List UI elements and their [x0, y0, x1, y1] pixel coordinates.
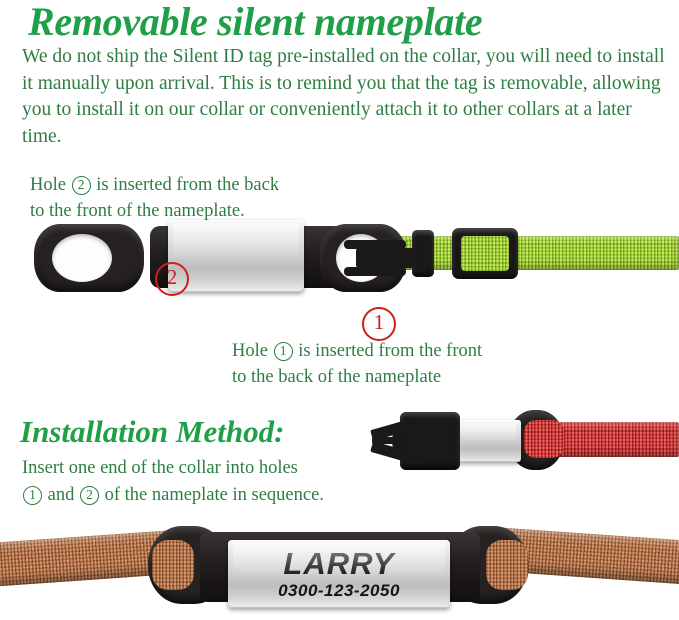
engraved-phone: 0300-123-2050	[228, 582, 450, 600]
collar-slider-buckle-window	[461, 236, 509, 271]
collar-clip-body	[356, 248, 414, 268]
figure-nameplate-green-collar	[0, 218, 679, 328]
callout-hole-one-line2: to the back of the nameplate	[232, 367, 441, 387]
hole-two-opening	[52, 234, 112, 282]
marker-hole-two: 2	[155, 262, 189, 296]
intro-paragraph: We do not ship the Silent ID tag pre-ins…	[22, 44, 670, 150]
figure-brown-collar-engraved: LARRY 0300-123-2050	[0, 516, 679, 620]
figure-red-collar-side	[0, 406, 679, 490]
collar-keeper-loop-inner	[412, 230, 434, 277]
circled-number-one-inline: 1	[274, 342, 293, 361]
engraved-nameplate: LARRY 0300-123-2050	[228, 540, 450, 608]
callout-hole-one-line1-after: is inserted from the front	[298, 341, 482, 361]
brown-webbing-in-left-lobe	[152, 540, 194, 590]
red-collar-webbing-through-lobe	[524, 420, 564, 458]
callout-hole-two-line1-after: is inserted from the back	[96, 175, 279, 195]
page-title: Removable silent nameplate	[28, 0, 668, 45]
callout-hole-two-line1-before: Hole	[30, 175, 66, 195]
collar-clip-prong-lower	[344, 267, 406, 276]
callout-hole-one-line1-before: Hole	[232, 341, 268, 361]
callout-hole-one: Hole 1 is inserted from the front to the…	[232, 338, 652, 390]
green-collar-webbing	[392, 236, 679, 270]
brown-webbing-in-right-lobe	[486, 540, 528, 590]
callout-hole-two: Hole 2 is inserted from the back to the …	[30, 172, 410, 224]
engraved-name: LARRY	[228, 548, 450, 580]
clip-prong-middle	[372, 437, 420, 444]
marker-hole-one: 1	[362, 307, 396, 341]
circled-number-two-inline: 2	[72, 176, 91, 195]
